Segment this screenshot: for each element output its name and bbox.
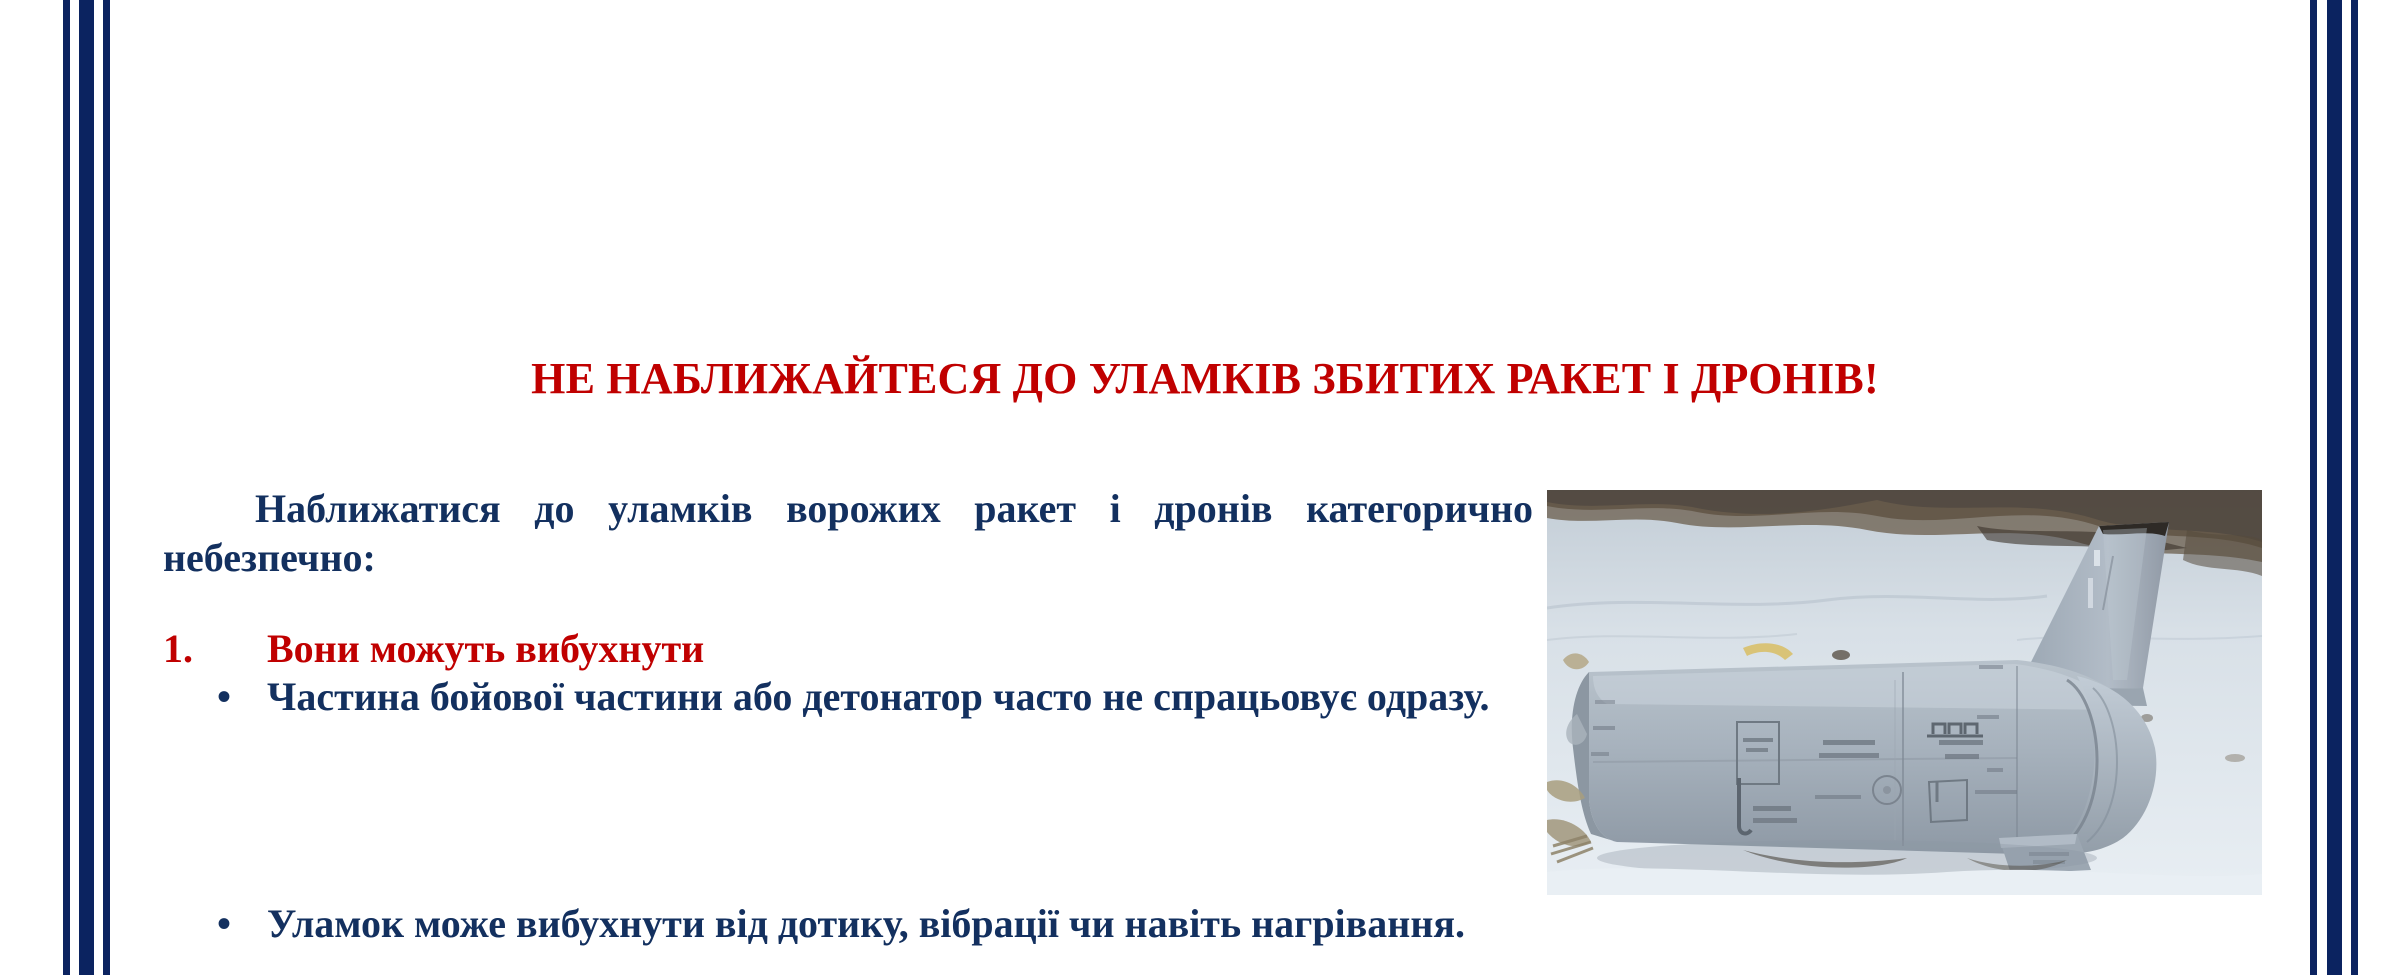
numbered-item-1: 1.Вони можуть вибухнути — [163, 625, 1533, 674]
stripe-right-2 — [2327, 0, 2342, 975]
paragraph-spacer — [163, 583, 1533, 625]
stripe-left-2 — [79, 0, 94, 975]
numbered-item-1-number: 1. — [163, 625, 267, 674]
stripe-right-1 — [2310, 0, 2317, 975]
stripe-gap — [70, 0, 79, 975]
stripe-gap — [2342, 0, 2351, 975]
stripe-gap — [2317, 0, 2327, 975]
bullet-marker-icon: • — [163, 900, 267, 949]
bullet-item-1: •Частина бойової частини або детонатор ч… — [163, 673, 1533, 722]
bullet-item-2: •Уламок може вибухнути від дотику, вібра… — [163, 900, 2263, 949]
body-text-block: Наближатися до уламків ворожих ракет і д… — [163, 485, 1533, 722]
bullet-item-1-label: Частина бойової частини або детонатор ча… — [267, 674, 1489, 719]
missile-wreckage-photo — [1547, 490, 2262, 895]
stripe-gap — [94, 0, 103, 975]
numbered-item-1-label: Вони можуть вибухнути — [267, 626, 704, 671]
slide-title: НЕ НАБЛИЖАЙТЕСЯ ДО УЛАМКІВ ЗБИТИХ РАКЕТ … — [160, 357, 2250, 401]
stripe-right-3 — [2351, 0, 2358, 975]
right-stripe-band — [2310, 0, 2358, 975]
intro-paragraph: Наближатися до уламків ворожих ракет і д… — [163, 485, 1533, 583]
bullet-marker-icon: • — [163, 673, 267, 722]
missile-wreckage-illustration — [1547, 490, 2262, 895]
slide-canvas: НЕ НАБЛИЖАЙТЕСЯ ДО УЛАМКІВ ЗБИТИХ РАКЕТ … — [0, 0, 2401, 975]
stripe-left-1 — [63, 0, 70, 975]
bullet-item-2-label: Уламок може вибухнути від дотику, вібрац… — [267, 901, 1465, 946]
stripe-left-3 — [103, 0, 110, 975]
left-stripe-band — [63, 0, 110, 975]
